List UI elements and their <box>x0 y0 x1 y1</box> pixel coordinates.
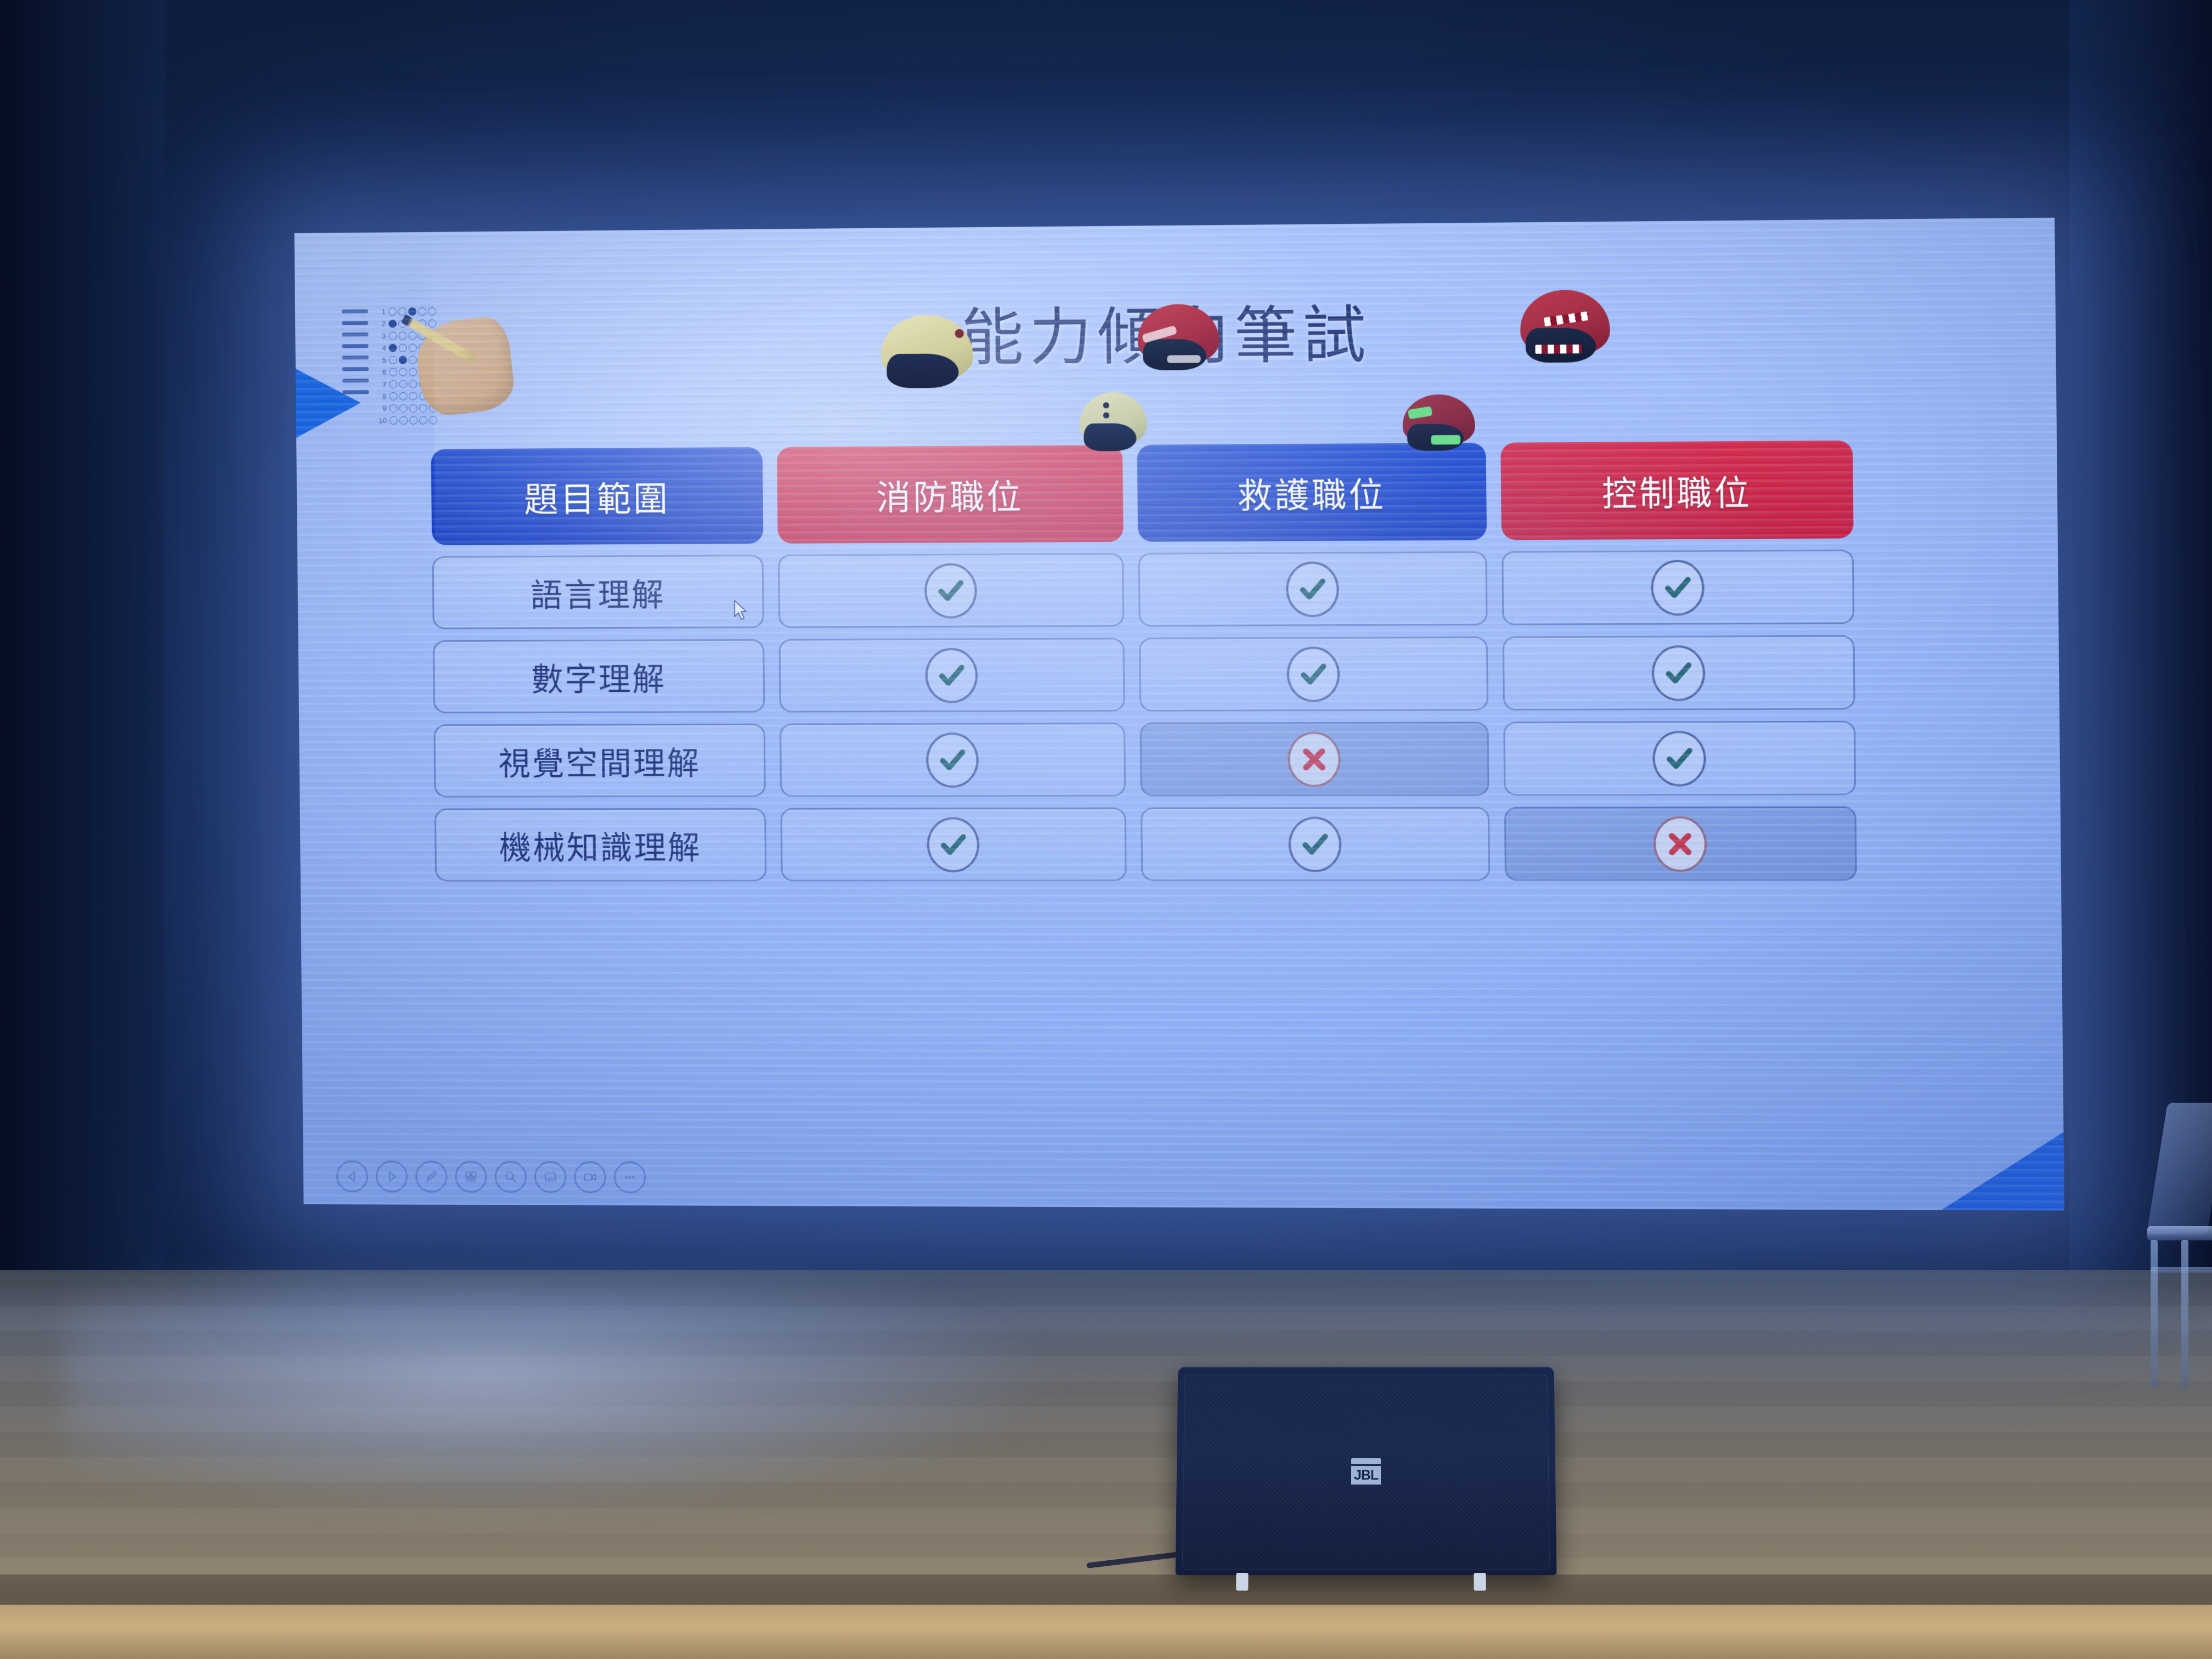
blank-screen-icon[interactable] <box>534 1161 567 1193</box>
jbl-logo-bar <box>1351 1458 1381 1464</box>
stage-monitor-speaker: JBL <box>1176 1367 1557 1575</box>
check-icon <box>924 563 977 618</box>
table-header-ambulance-position: 救護職位 <box>1137 443 1487 542</box>
projection-screen: 1 2 3 4 5 6 7 8 9 10 能力傾向筆試 <box>295 218 2064 1211</box>
control-helmet-red-checkered-icon <box>1520 290 1610 356</box>
table-row: 機械知識理解 <box>435 806 1892 882</box>
check-icon <box>925 647 978 703</box>
fire-helmet-yellow-icon <box>881 315 973 382</box>
cell-ambulance <box>1141 807 1490 881</box>
check-icon <box>926 732 979 787</box>
cell-ambulance <box>1140 721 1489 796</box>
subtitles-video-icon[interactable] <box>574 1161 606 1193</box>
cell-control <box>1502 550 1854 625</box>
photo-of-projected-slide: JBL 1 2 3 4 5 6 <box>0 0 2212 1659</box>
presentation-toolbar[interactable] <box>336 1160 646 1193</box>
cross-icon <box>1288 731 1341 787</box>
cell-fire <box>778 553 1124 628</box>
fire-helmet-cream-icon <box>1080 392 1147 446</box>
all-slides-icon[interactable] <box>455 1161 487 1193</box>
check-icon <box>1286 646 1340 702</box>
cell-control <box>1503 635 1855 710</box>
cell-fire <box>780 723 1126 797</box>
jbl-logo-text: JBL <box>1351 1466 1381 1485</box>
table-row: 數字理解 <box>433 635 1891 714</box>
check-icon <box>1651 645 1705 701</box>
more-options-icon[interactable] <box>614 1161 646 1193</box>
metal-chair <box>2129 1103 2212 1388</box>
chair-leg <box>2181 1240 2188 1388</box>
row-label: 視覺空間理解 <box>498 737 701 784</box>
chair-leg <box>2151 1240 2158 1388</box>
cell-fire <box>778 638 1125 713</box>
table-header-subject-range: 題目範圍 <box>431 447 764 545</box>
chair-seat <box>2147 1226 2212 1240</box>
row-label: 語言理解 <box>530 568 665 615</box>
stage-curtain-left <box>0 0 165 1278</box>
check-icon <box>1652 730 1706 786</box>
table-row: 視覺空間理解 <box>433 721 1891 798</box>
table-header-row: 題目範圍 消防職位 救護職位 控制職位 <box>431 440 1889 545</box>
stage-apron <box>0 1605 2212 1659</box>
row-label-cell: 數字理解 <box>433 639 765 713</box>
next-slide-icon[interactable] <box>376 1160 408 1192</box>
cross-icon <box>1653 816 1707 872</box>
pen-annotation-icon[interactable] <box>415 1161 448 1193</box>
speaker-foot <box>1236 1573 1248 1590</box>
cell-ambulance <box>1138 551 1488 627</box>
row-label-cell: 機械知識理解 <box>435 808 767 882</box>
row-label: 數字理解 <box>531 653 667 699</box>
blue-triangle-decor-icon <box>1940 1132 2064 1211</box>
check-icon <box>1651 560 1705 616</box>
cell-control <box>1504 806 1857 881</box>
speaker-foot <box>1474 1573 1486 1590</box>
check-icon <box>927 817 980 872</box>
table-header-control-position: 控制職位 <box>1500 441 1853 540</box>
mouse-pointer-icon <box>733 600 748 621</box>
rescue-helmet-red-icon <box>1137 304 1219 364</box>
stage-edge <box>0 1575 2212 1607</box>
comparison-table: 題目範圍 消防職位 救護職位 控制職位 語言理解 <box>431 440 1893 892</box>
slide-surface: 1 2 3 4 5 6 7 8 9 10 能力傾向筆試 <box>295 218 2064 1211</box>
cell-fire <box>780 808 1126 882</box>
row-label-cell: 視覺空間理解 <box>433 724 766 798</box>
check-icon <box>1286 561 1339 617</box>
rescue-helmet-dark-red-green-stripe-icon <box>1402 394 1475 446</box>
row-label-cell: 語言理解 <box>432 555 764 629</box>
zoom-icon[interactable] <box>494 1161 527 1193</box>
cell-control <box>1503 721 1856 796</box>
check-icon <box>1288 816 1341 872</box>
table-header-fire-position: 消防職位 <box>777 445 1124 544</box>
table-row: 語言理解 <box>432 549 1889 629</box>
jbl-logo: JBL <box>1351 1458 1381 1485</box>
stage-curtain-right <box>2069 0 2212 1295</box>
chair-backrest <box>2147 1103 2212 1234</box>
cell-ambulance <box>1139 636 1488 712</box>
previous-slide-icon[interactable] <box>336 1160 369 1192</box>
row-label: 機械知識理解 <box>499 822 701 868</box>
